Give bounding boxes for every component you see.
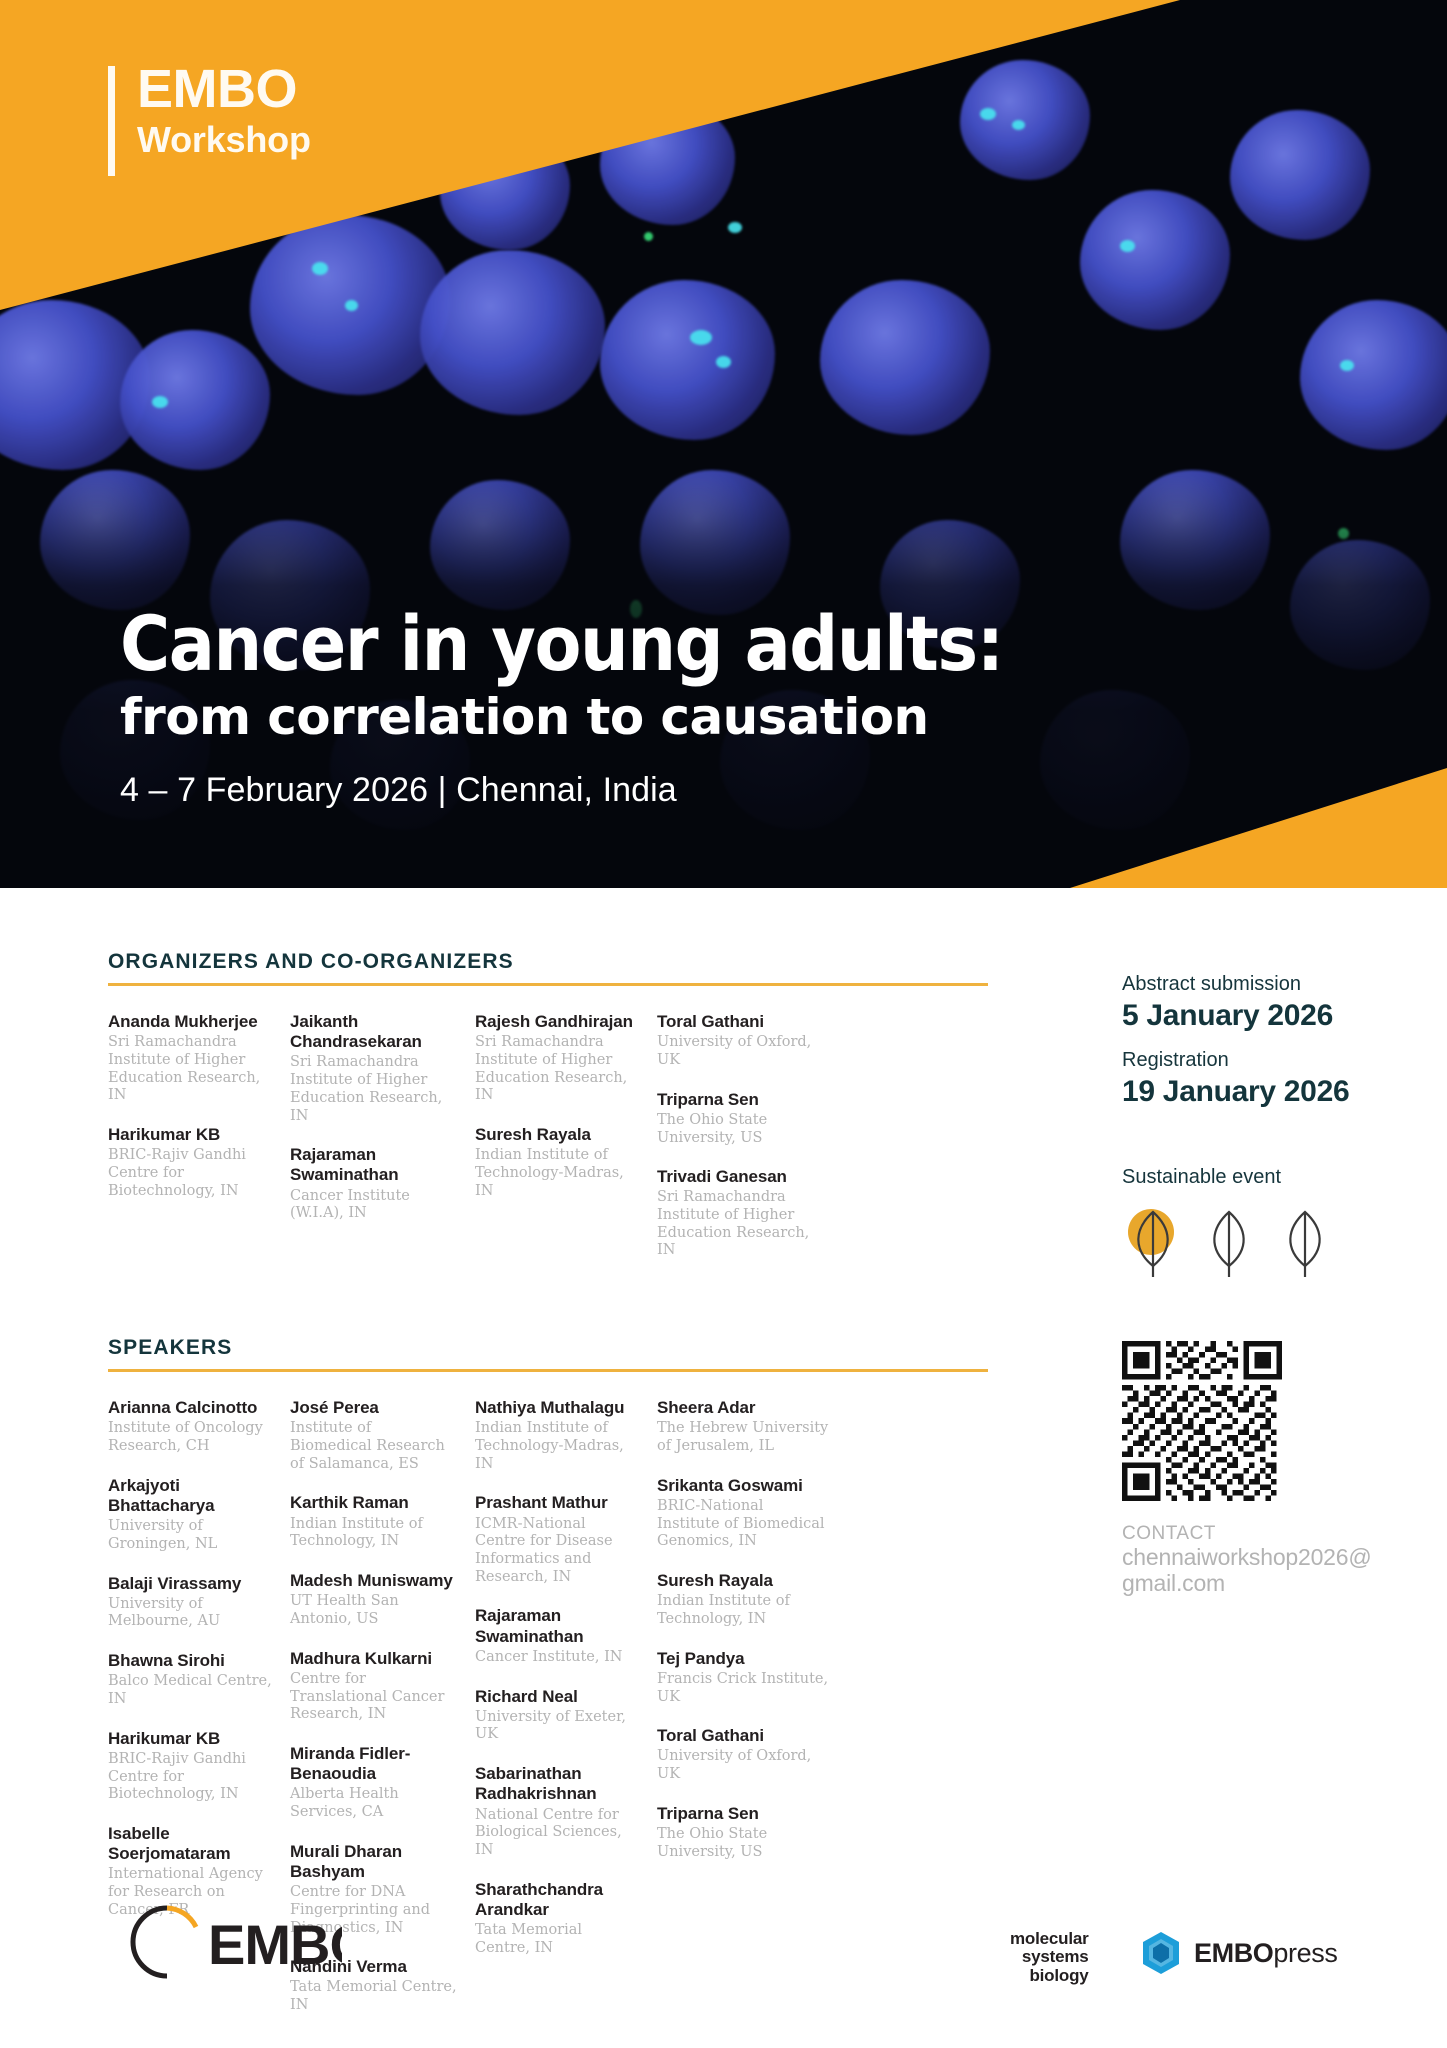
person-name: José Perea <box>290 1398 457 1418</box>
person-name: Nathiya Muthalagu <box>475 1398 639 1418</box>
person-name: Srikanta Goswami <box>657 1476 829 1496</box>
organizers-column-2: Jaikanth Chandrasekaran Sri Ramachandra … <box>290 1012 475 1280</box>
person-name: Madhura Kulkarni <box>290 1649 457 1669</box>
person-affiliation: Alberta Health Services, CA <box>290 1786 457 1821</box>
person-entry: Harikumar KB BRIC-Rajiv Gandhi Centre fo… <box>108 1125 272 1200</box>
speakers-heading-rule <box>108 1369 988 1372</box>
person-affiliation: Cancer Institute (W.I.A), IN <box>290 1188 457 1223</box>
person-name: Balaji Virassamy <box>108 1574 272 1594</box>
contact-email-line2[interactable]: gmail.com <box>1122 1571 1392 1597</box>
person-entry: Sheera Adar The Hebrew University of Jer… <box>657 1398 829 1456</box>
embopress-hexagon-icon <box>1140 1930 1182 1976</box>
person-affiliation: Centre for Translational Cancer Research… <box>290 1671 457 1724</box>
person-affiliation: Sri Ramachandra Institute of Higher Educ… <box>475 1034 639 1105</box>
person-name: Sabarinathan Radhakrishnan <box>475 1764 639 1804</box>
person-name: Tej Pandya <box>657 1649 829 1669</box>
person-affiliation: Indian Institute of Technology, IN <box>657 1593 829 1628</box>
msb-line-3: biology <box>1010 1967 1089 1985</box>
abstract-submission-date: 5 January 2026 <box>1122 998 1392 1034</box>
organizers-heading-rule <box>108 983 988 986</box>
embo-press-logo: EMBOpress <box>1140 1930 1337 1976</box>
person-entry: Trivadi Ganesan Sri Ramachandra Institut… <box>657 1167 829 1260</box>
person-name: Triparna Sen <box>657 1804 829 1824</box>
person-name: Bhawna Sirohi <box>108 1651 272 1671</box>
person-entry: Ananda Mukherjee Sri Ramachandra Institu… <box>108 1012 272 1105</box>
person-affiliation: Sri Ramachandra Institute of Higher Educ… <box>290 1054 457 1125</box>
person-affiliation: University of Melbourne, AU <box>108 1596 272 1631</box>
person-affiliation: Balco Medical Centre, IN <box>108 1673 272 1708</box>
person-affiliation: The Ohio State University, US <box>657 1112 829 1147</box>
person-affiliation: BRIC-National Institute of Biomedical Ge… <box>657 1498 829 1551</box>
person-entry: Arkajyoti Bhattacharya University of Gro… <box>108 1476 272 1554</box>
embopress-light: press <box>1273 1938 1337 1968</box>
abstract-submission-label: Abstract submission <box>1122 972 1392 997</box>
event-date-location: 4 – 7 February 2026 | Chennai, India <box>120 771 1300 810</box>
person-entry: Bhawna Sirohi Balco Medical Centre, IN <box>108 1651 272 1709</box>
leaf-icon-empty <box>1274 1203 1336 1281</box>
embopress-bold: EMBO <box>1194 1938 1273 1968</box>
embo-logo-text: EMBO <box>208 1913 342 1976</box>
organizers-column-1: Ananda Mukherjee Sri Ramachandra Institu… <box>108 1012 290 1280</box>
person-entry: Prashant Mathur ICMR-National Centre for… <box>475 1493 639 1586</box>
organizers-grid: Ananda Mukherjee Sri Ramachandra Institu… <box>108 1012 988 1280</box>
organizers-column-3: Rajesh Gandhirajan Sri Ramachandra Insti… <box>475 1012 657 1280</box>
organizers-section: ORGANIZERS AND CO-ORGANIZERS Ananda Mukh… <box>108 950 988 1280</box>
person-name: Karthik Raman <box>290 1493 457 1513</box>
person-entry: Balaji Virassamy University of Melbourne… <box>108 1574 272 1632</box>
person-affiliation: Indian Institute of Technology-Madras, I… <box>475 1420 639 1473</box>
person-affiliation: The Ohio State University, US <box>657 1826 829 1861</box>
person-entry: Srikanta Goswami BRIC-National Institute… <box>657 1476 829 1551</box>
person-name: Jaikanth Chandrasekaran <box>290 1012 457 1052</box>
person-name: Arkajyoti Bhattacharya <box>108 1476 272 1516</box>
contact-email-line1[interactable]: chennaiworkshop2026@ <box>1122 1545 1392 1571</box>
person-entry: Toral Gathani University of Oxford, UK <box>657 1012 829 1070</box>
person-name: Madesh Muniswamy <box>290 1571 457 1591</box>
person-name: Harikumar KB <box>108 1125 272 1145</box>
logo-embo-text: EMBO <box>137 62 311 116</box>
person-entry: Rajaraman Swaminathan Cancer Institute (… <box>290 1145 457 1223</box>
organizers-column-4: Toral Gathani University of Oxford, UK T… <box>657 1012 847 1280</box>
person-entry: Suresh Rayala Indian Institute of Techno… <box>475 1125 639 1200</box>
embopress-text: EMBOpress <box>1194 1938 1337 1969</box>
person-name: Suresh Rayala <box>657 1571 829 1591</box>
person-affiliation: University of Exeter, UK <box>475 1709 639 1744</box>
person-name: Ananda Mukherjee <box>108 1012 272 1032</box>
person-affiliation: University of Oxford, UK <box>657 1748 829 1783</box>
person-name: Trivadi Ganesan <box>657 1167 829 1187</box>
logo-workshop-text: Workshop <box>137 122 311 158</box>
person-entry: José Perea Institute of Biomedical Resea… <box>290 1398 457 1473</box>
registration-label: Registration <box>1122 1048 1392 1073</box>
person-affiliation: BRIC-Rajiv Gandhi Centre for Biotechnolo… <box>108 1751 272 1804</box>
person-entry: Madhura Kulkarni Centre for Translationa… <box>290 1649 457 1724</box>
person-entry: Miranda Fidler-Benaoudia Alberta Health … <box>290 1744 457 1822</box>
person-affiliation: Sri Ramachandra Institute of Higher Educ… <box>108 1034 272 1105</box>
right-column: Abstract submission 5 January 2026 Regis… <box>1122 972 1392 1597</box>
leaf-icon-empty <box>1198 1203 1260 1281</box>
contact-label: CONTACT <box>1122 1523 1392 1545</box>
sustainable-event-block: Sustainable event <box>1122 1166 1392 1281</box>
sustainability-rating <box>1122 1203 1392 1281</box>
person-entry: Suresh Rayala Indian Institute of Techno… <box>657 1571 829 1629</box>
person-name: Suresh Rayala <box>475 1125 639 1145</box>
person-affiliation: Institute of Oncology Research, CH <box>108 1420 272 1455</box>
footer: EMBO molecular systems biology EMBOpress <box>0 1858 1447 2048</box>
contact-block: CONTACT chennaiworkshop2026@ gmail.com <box>1122 1523 1392 1597</box>
deadlines-block: Abstract submission 5 January 2026 Regis… <box>1122 972 1392 1110</box>
person-name: Rajaraman Swaminathan <box>475 1606 639 1646</box>
person-name: Arianna Calcinotto <box>108 1398 272 1418</box>
person-entry: Karthik Raman Indian Institute of Techno… <box>290 1493 457 1551</box>
person-affiliation: UT Health San Antonio, US <box>290 1593 457 1628</box>
person-entry: Triparna Sen The Ohio State University, … <box>657 1090 829 1148</box>
person-entry: Madesh Muniswamy UT Health San Antonio, … <box>290 1571 457 1629</box>
embo-workshop-logo: EMBO Workshop <box>108 62 311 176</box>
page-subtitle: from correlation to causation <box>120 689 1300 745</box>
person-affiliation: University of Groningen, NL <box>108 1518 272 1553</box>
hero-banner: EMBO Workshop Cancer in young adults: fr… <box>0 0 1447 888</box>
person-affiliation: Cancer Institute, IN <box>475 1649 639 1667</box>
person-entry: Arianna Calcinotto Institute of Oncology… <box>108 1398 272 1456</box>
person-name: Miranda Fidler-Benaoudia <box>290 1744 457 1784</box>
person-name: Richard Neal <box>475 1687 639 1707</box>
person-affiliation: Indian Institute of Technology, IN <box>290 1516 457 1551</box>
registration-date: 19 January 2026 <box>1122 1074 1392 1110</box>
person-entry: Triparna Sen The Ohio State University, … <box>657 1804 829 1862</box>
sustainable-event-label: Sustainable event <box>1122 1166 1392 1189</box>
person-name: Rajesh Gandhirajan <box>475 1012 639 1032</box>
person-entry: Rajesh Gandhirajan Sri Ramachandra Insti… <box>475 1012 639 1105</box>
person-affiliation: ICMR-National Centre for Disease Informa… <box>475 1516 639 1587</box>
person-entry: Sabarinathan Radhakrishnan National Cent… <box>475 1764 639 1860</box>
molecular-systems-biology-logo: molecular systems biology <box>1010 1930 1089 1985</box>
person-entry: Harikumar KB BRIC-Rajiv Gandhi Centre fo… <box>108 1729 272 1804</box>
msb-line-1: molecular <box>1010 1930 1089 1948</box>
page-title: Cancer in young adults: <box>120 605 1300 683</box>
person-entry: Tej Pandya Francis Crick Institute, UK <box>657 1649 829 1707</box>
person-entry: Jaikanth Chandrasekaran Sri Ramachandra … <box>290 1012 457 1125</box>
person-affiliation: BRIC-Rajiv Gandhi Centre for Biotechnolo… <box>108 1147 272 1200</box>
person-affiliation: Institute of Biomedical Research of Sala… <box>290 1420 457 1473</box>
embo-logo: EMBO <box>112 1894 342 1995</box>
person-affiliation: The Hebrew University of Jerusalem, IL <box>657 1420 829 1455</box>
person-name: Toral Gathani <box>657 1012 829 1032</box>
logo-vertical-rule <box>108 66 115 176</box>
person-name: Toral Gathani <box>657 1726 829 1746</box>
hero-text-block: Cancer in young adults: from correlation… <box>120 605 1300 810</box>
person-entry: Richard Neal University of Exeter, UK <box>475 1687 639 1745</box>
person-name: Prashant Mathur <box>475 1493 639 1513</box>
person-affiliation: National Centre for Biological Sciences,… <box>475 1807 639 1860</box>
person-name: Triparna Sen <box>657 1090 829 1110</box>
person-affiliation: University of Oxford, UK <box>657 1034 829 1069</box>
person-affiliation: Francis Crick Institute, UK <box>657 1671 829 1706</box>
leaf-icon-filled <box>1122 1203 1184 1281</box>
person-name: Harikumar KB <box>108 1729 272 1749</box>
qr-code[interactable] <box>1122 1341 1282 1501</box>
person-affiliation: Indian Institute of Technology-Madras, I… <box>475 1147 639 1200</box>
organizers-heading: ORGANIZERS AND CO-ORGANIZERS <box>108 950 988 974</box>
msb-line-2: systems <box>1010 1948 1089 1966</box>
person-entry: Rajaraman Swaminathan Cancer Institute, … <box>475 1606 639 1666</box>
speakers-heading: SPEAKERS <box>108 1336 988 1360</box>
person-name: Rajaraman Swaminathan <box>290 1145 457 1185</box>
person-entry: Toral Gathani University of Oxford, UK <box>657 1726 829 1784</box>
person-name: Sheera Adar <box>657 1398 829 1418</box>
person-affiliation: Sri Ramachandra Institute of Higher Educ… <box>657 1189 829 1260</box>
person-entry: Nathiya Muthalagu Indian Institute of Te… <box>475 1398 639 1473</box>
